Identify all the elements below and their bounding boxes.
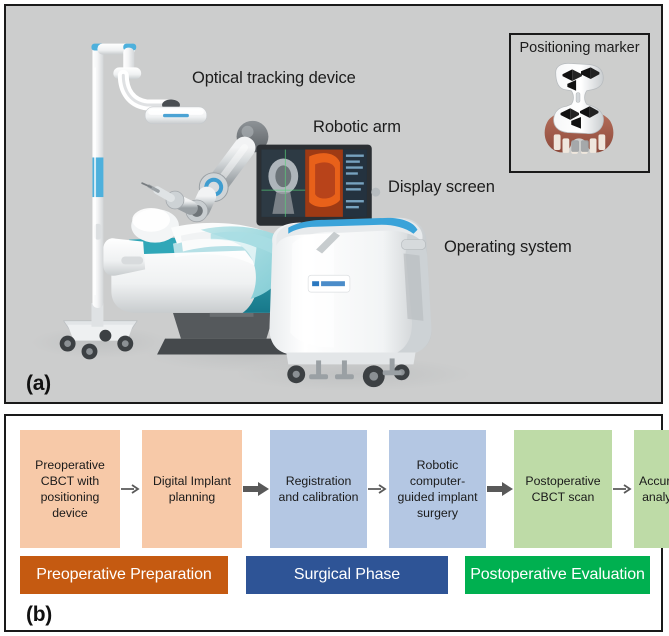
flow-step-digital-implant-planning: Digital Implant planning [142, 430, 242, 548]
arrow-right-icon-large [486, 480, 514, 498]
workflow-phase-banner-row: Preoperative Preparation Surgical Phase … [20, 556, 650, 594]
flow-step-registration-calibration: Registration and calibration [270, 430, 367, 548]
banner-gap-2 [448, 556, 465, 594]
label-display-screen: Display screen [388, 178, 495, 197]
robotic-arm-art [142, 121, 268, 222]
panel-a-photograph: Optical tracking device Robotic arm Disp… [4, 4, 663, 404]
phase-banner-postoperative-evaluation: Postoperative Evaluation [465, 556, 650, 594]
arrow-phase1-phase2 [242, 480, 270, 498]
phase-banner-preoperative-preparation: Preoperative Preparation [20, 556, 228, 594]
arrow-phase2-phase3 [486, 480, 514, 498]
flow-step-preoperative-cbct: Preoperative CBCT with positioning devic… [20, 430, 120, 548]
positioning-marker-title: Positioning marker [511, 40, 648, 56]
operating-system-cart [269, 218, 431, 387]
workflow-step-row: Preoperative CBCT with positioning devic… [20, 430, 650, 548]
flow-step-accuracy-analysis: Accuracy analysis [634, 430, 669, 548]
banner-gap-1 [228, 556, 246, 594]
label-optical-tracking-device: Optical tracking device [192, 69, 356, 88]
flow-step-postoperative-cbct-scan: Postoperative CBCT scan [514, 430, 612, 548]
panel-b-workflow-diagram: Preoperative CBCT with positioning devic… [4, 414, 663, 632]
label-operating-system: Operating system [444, 238, 572, 257]
arrow-step3-step4 [367, 483, 389, 495]
phase-banner-surgical-phase: Surgical Phase [246, 556, 448, 594]
arrow-step5-step6 [612, 483, 634, 495]
positioning-marker-art [511, 57, 648, 173]
figure-container: Optical tracking device Robotic arm Disp… [0, 0, 669, 636]
arrow-right-icon-small [612, 483, 634, 495]
panel-b-label: (b) [26, 603, 52, 627]
arrow-step1-step2 [120, 483, 142, 495]
arrow-right-icon-small [367, 483, 389, 495]
flow-step-robotic-implant-surgery: Robotic computer-guided implant surgery [389, 430, 486, 548]
arrow-right-icon-small [120, 483, 142, 495]
arrow-right-icon-large [242, 480, 270, 498]
label-robotic-arm: Robotic arm [313, 118, 401, 137]
positioning-marker-inset: Positioning marker [509, 33, 650, 173]
panel-a-label: (a) [26, 372, 51, 396]
